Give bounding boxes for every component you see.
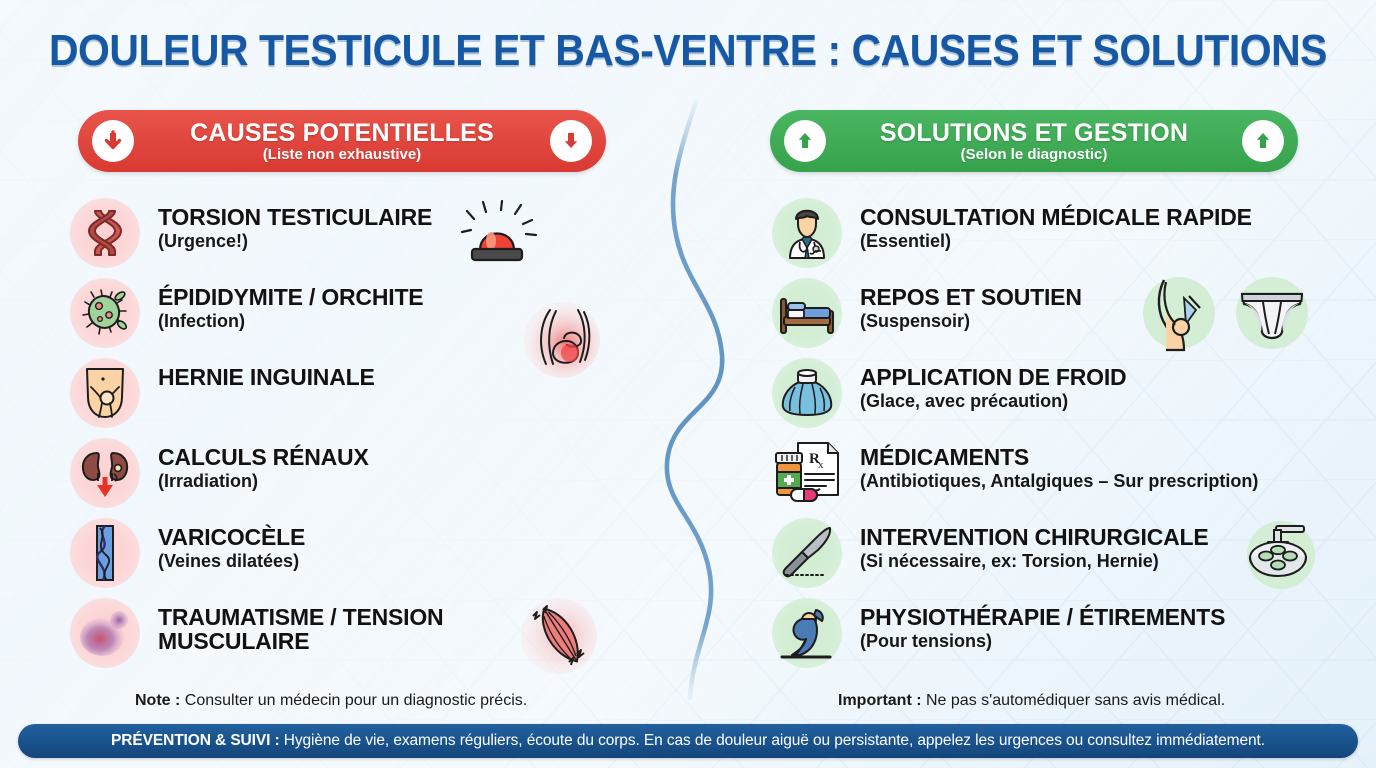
- list-item-subtitle: (Essentiel): [860, 232, 1252, 252]
- list-item-subtitle: (Veines dilatées): [158, 552, 305, 572]
- list-item-subtitle: (Si nécessaire, ex: Torsion, Hernie): [860, 552, 1209, 572]
- doctor-icon: [772, 198, 842, 268]
- surgical-lamp-icon: [1242, 516, 1320, 599]
- list-item-title: VARICOCÈLE: [158, 526, 305, 550]
- list-item-title: INTERVENTION CHIRURGICALE: [860, 526, 1209, 550]
- causes-note-label: Note :: [135, 692, 180, 709]
- list-item-title: CALCULS RÉNAUX: [158, 446, 369, 470]
- list-item[interactable]: CONSULTATION MÉDICALE RAPIDE (Essentiel): [772, 196, 1372, 276]
- svg-text:x: x: [818, 459, 824, 471]
- bed-icon: [772, 278, 842, 348]
- page-title: DOULEUR TESTICULE ET BAS-VENTRE : CAUSES…: [48, 26, 1328, 76]
- bruise-icon: [70, 598, 140, 668]
- prescription-medication-icon: R x: [772, 438, 842, 508]
- list-item-text: INTERVENTION CHIRURGICALE (Si nécessaire…: [860, 516, 1209, 572]
- list-item-text: CONSULTATION MÉDICALE RAPIDE (Essentiel): [860, 196, 1252, 252]
- list-item[interactable]: APPLICATION DE FROID (Glace, avec précau…: [772, 356, 1372, 436]
- solutions-banner-subtitle: (Selon le diagnostic): [880, 147, 1188, 163]
- strained-muscle-icon: [515, 592, 603, 685]
- solutions-banner-title: SOLUTIONS ET GESTION: [880, 120, 1188, 146]
- list-item-text: TORSION TESTICULAIRE (Urgence!): [158, 196, 432, 252]
- list-item[interactable]: PHYSIOTHÉRAPIE / ÉTIREMENTS (Pour tensio…: [772, 596, 1372, 676]
- inflamed-testicle-icon: [520, 298, 604, 387]
- list-item-title: MÉDICAMENTS: [860, 446, 1258, 470]
- list-item-subtitle: (Pour tensions): [860, 632, 1225, 652]
- twisted-cord-icon: [70, 198, 140, 268]
- causes-note-text: Consulter un médecin pour un diagnostic …: [180, 692, 527, 709]
- list-item-text: MÉDICAMENTS (Antibiotiques, Antalgiques …: [860, 436, 1258, 492]
- causes-banner: CAUSES POTENTIELLES (Liste non exhaustiv…: [78, 110, 606, 172]
- list-item-title: CONSULTATION MÉDICALE RAPIDE: [860, 206, 1252, 230]
- list-item[interactable]: ÉPIDIDYMITE / ORCHITE (Infection): [70, 276, 650, 356]
- list-item-title: TORSION TESTICULAIRE: [158, 206, 432, 230]
- list-item-title: TRAUMATISME / TENSION MUSCULAIRE: [158, 606, 488, 654]
- underwear-icon: [1232, 274, 1312, 357]
- solutions-note: Important : Ne pas s'automédiquer sans a…: [838, 692, 1225, 710]
- list-item-text: PHYSIOTHÉRAPIE / ÉTIREMENTS (Pour tensio…: [860, 596, 1225, 652]
- ice-pack-icon: [772, 358, 842, 428]
- list-item-text: VARICOCÈLE (Veines dilatées): [158, 516, 305, 572]
- list-item-text: APPLICATION DE FROID (Glace, avec précau…: [860, 356, 1126, 412]
- bacteria-icon: [70, 278, 140, 348]
- list-item-subtitle: (Infection): [158, 312, 423, 332]
- kidneys-icon: [70, 438, 140, 508]
- list-item[interactable]: CALCULS RÉNAUX (Irradiation): [70, 436, 650, 516]
- prevention-bar: PRÉVENTION & SUIVI : Hygiène de vie, exa…: [18, 724, 1358, 758]
- list-item-text: ÉPIDIDYMITE / ORCHITE (Infection): [158, 276, 423, 332]
- list-item-text: REPOS ET SOUTIEN (Suspensoir): [860, 276, 1082, 332]
- list-item-text: CALCULS RÉNAUX (Irradiation): [158, 436, 369, 492]
- solutions-note-text: Ne pas s'automédiquer sans avis médical.: [922, 692, 1226, 709]
- solutions-banner: SOLUTIONS ET GESTION (Selon le diagnosti…: [770, 110, 1298, 172]
- list-item[interactable]: TORSION TESTICULAIRE (Urgence!): [70, 196, 650, 276]
- list-item-title: HERNIE INGUINALE: [158, 366, 375, 390]
- causes-list: TORSION TESTICULAIRE (Urgence!): [70, 196, 650, 680]
- causes-note: Note : Consulter un médecin pour un diag…: [135, 692, 527, 710]
- groin-hernia-icon: [70, 358, 140, 428]
- emergency-siren-icon: [460, 200, 542, 271]
- arrow-down-circle-icon: [550, 120, 592, 162]
- arrow-up-circle-icon: [1242, 120, 1284, 162]
- list-item[interactable]: INTERVENTION CHIRURGICALE (Si nécessaire…: [772, 516, 1372, 596]
- arrow-up-circle-icon: [784, 120, 826, 162]
- solutions-list: CONSULTATION MÉDICALE RAPIDE (Essentiel)…: [772, 196, 1372, 676]
- list-item-subtitle: (Suspensoir): [860, 312, 1082, 332]
- prevention-bar-body: Hygiène de vie, examens réguliers, écout…: [280, 732, 1265, 749]
- list-item-subtitle: (Irradiation): [158, 472, 369, 492]
- list-item-subtitle: (Urgence!): [158, 232, 432, 252]
- list-item-subtitle: (Glace, avec précaution): [860, 392, 1126, 412]
- list-item-text: TRAUMATISME / TENSION MUSCULAIRE: [158, 596, 488, 656]
- scrotal-support-icon: [1140, 274, 1218, 357]
- prevention-bar-label: PRÉVENTION & SUIVI :: [111, 732, 280, 749]
- arrow-down-circle-icon: [92, 120, 134, 162]
- list-item[interactable]: R x: [772, 436, 1372, 516]
- list-item[interactable]: REPOS ET SOUTIEN (Suspensoir): [772, 276, 1372, 356]
- wavy-divider: [646, 100, 766, 700]
- prevention-bar-text: PRÉVENTION & SUIVI : Hygiène de vie, exa…: [111, 732, 1265, 750]
- causes-banner-title: CAUSES POTENTIELLES: [190, 120, 494, 146]
- list-item-title: PHYSIOTHÉRAPIE / ÉTIREMENTS: [860, 606, 1225, 630]
- list-item[interactable]: VARICOCÈLE (Veines dilatées): [70, 516, 650, 596]
- list-item-subtitle: (Antibiotiques, Antalgiques – Sur prescr…: [860, 472, 1258, 492]
- list-item-title: ÉPIDIDYMITE / ORCHITE: [158, 286, 423, 310]
- scalpel-icon: [772, 518, 842, 588]
- causes-banner-subtitle: (Liste non exhaustive): [190, 147, 494, 163]
- causes-banner-text: CAUSES POTENTIELLES (Liste non exhaustiv…: [130, 120, 554, 163]
- solutions-note-label: Important :: [838, 692, 922, 709]
- stretching-person-icon: [772, 598, 842, 668]
- list-item-title: APPLICATION DE FROID: [860, 366, 1126, 390]
- solutions-banner-text: SOLUTIONS ET GESTION (Selon le diagnosti…: [820, 120, 1248, 163]
- list-item[interactable]: TRAUMATISME / TENSION MUSCULAIRE: [70, 596, 650, 680]
- list-item-title: REPOS ET SOUTIEN: [860, 286, 1082, 310]
- list-item-text: HERNIE INGUINALE: [158, 356, 375, 392]
- dilated-vein-icon: [70, 518, 140, 588]
